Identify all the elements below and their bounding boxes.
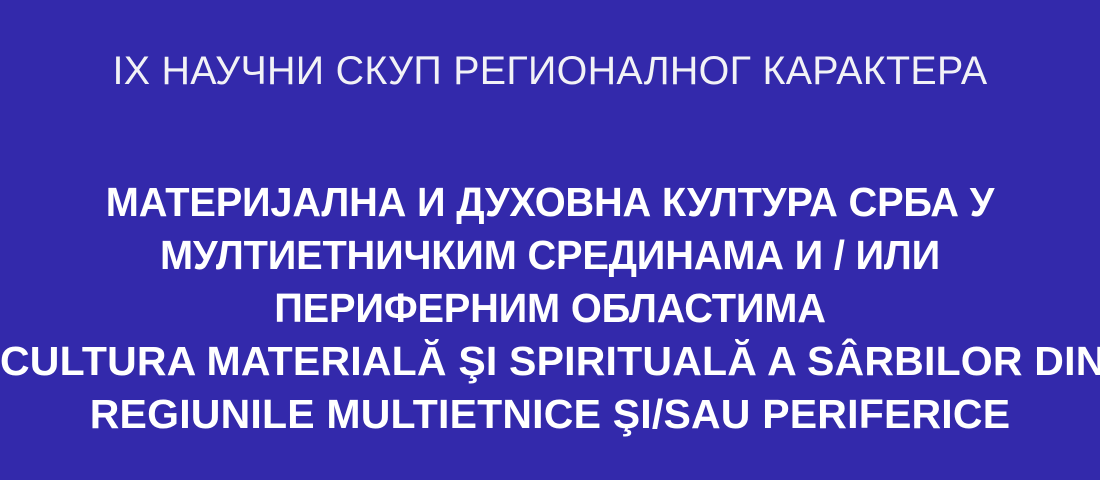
conference-kicker: IX НАУЧНИ СКУП РЕГИОНАЛНОГ КАРАКТЕРА [8, 48, 1092, 94]
title-line-romanian-2: REGIUNILE MULTIETNICE ŞI/SAU PERIFERICE [0, 388, 1100, 441]
title-block: МАТЕРИЈАЛНА И ДУХОВНА КУЛТУРА СРБА У МУЛ… [0, 176, 1100, 441]
title-line-romanian-1: CULTURA MATERIALĂ ŞI SPIRITUALĂ A SÂRBIL… [0, 335, 1100, 388]
title-line-serbian-2: МУЛТИЕТНИЧКИМ СРЕДИНАМА И / ИЛИ [17, 229, 1084, 282]
title-slide: IX НАУЧНИ СКУП РЕГИОНАЛНОГ КАРАКТЕРА МАТ… [0, 0, 1100, 480]
title-line-serbian-3: ПЕРИФЕРНИМ ОБЛАСТИМА [17, 282, 1084, 335]
title-line-serbian-1: МАТЕРИЈАЛНА И ДУХОВНА КУЛТУРА СРБА У [17, 176, 1084, 229]
